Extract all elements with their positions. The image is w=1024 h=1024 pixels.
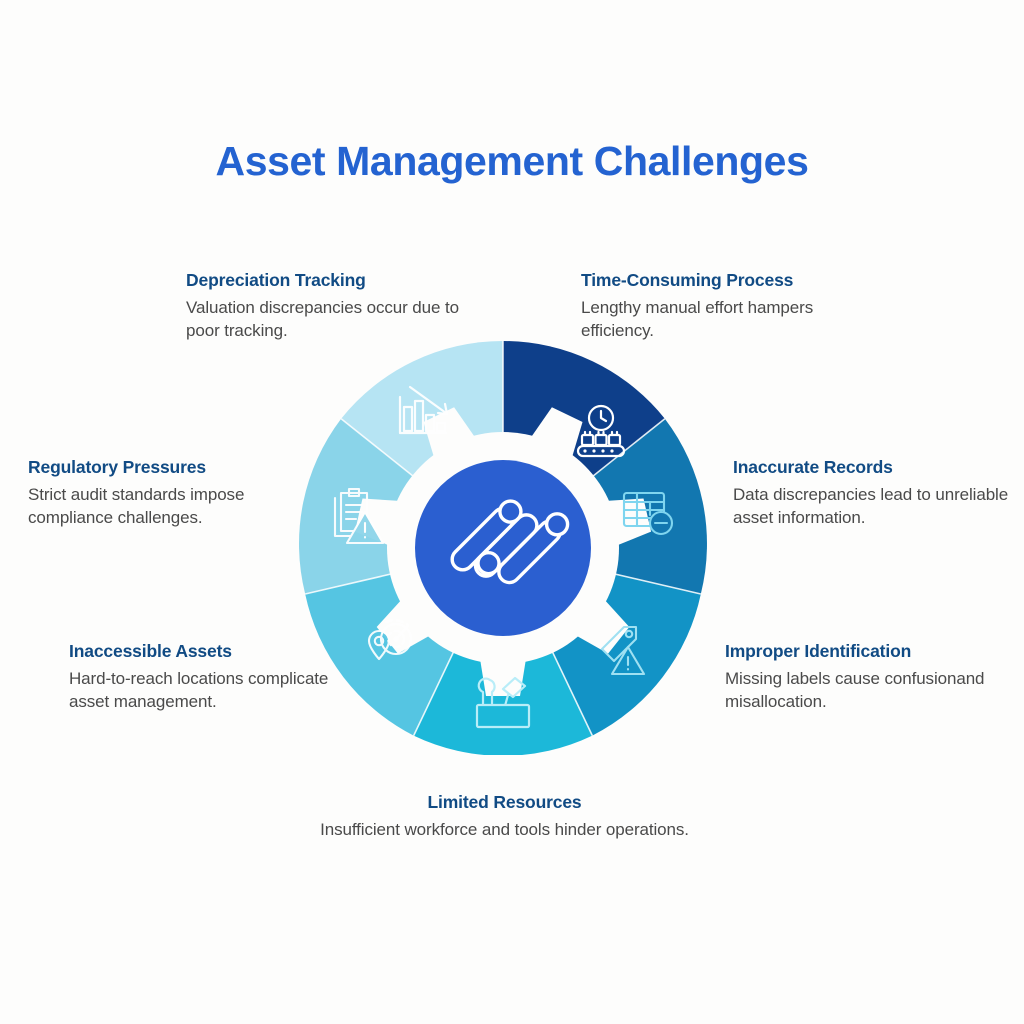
callout-heading: Improper Identification — [725, 641, 1007, 662]
callout-body: Missing labels cause confusionand misall… — [725, 668, 1007, 714]
callout-heading: Depreciation Tracking — [186, 270, 486, 291]
callout-inaccurate-records: Inaccurate Records Data discrepancies le… — [733, 457, 1015, 530]
callout-body: Hard-to-reach locations complicate asset… — [69, 668, 361, 714]
callout-body: Insufficient workforce and tools hinder … — [312, 819, 697, 842]
callout-limited-resources: Limited Resources Insufficient workforce… — [312, 792, 697, 842]
callout-heading: Inaccessible Assets — [69, 641, 361, 662]
callout-inaccessible-assets: Inaccessible Assets Hard-to-reach locati… — [69, 641, 361, 714]
wheel-center-hub[interactable] — [415, 460, 591, 636]
page-title: Asset Management Challenges — [0, 138, 1024, 185]
callout-body: Strict audit standards impose compliance… — [28, 484, 314, 530]
callout-depreciation-tracking: Depreciation Tracking Valuation discrepa… — [186, 270, 486, 343]
callout-heading: Regulatory Pressures — [28, 457, 314, 478]
callout-heading: Inaccurate Records — [733, 457, 1015, 478]
callout-heading: Time-Consuming Process — [581, 270, 881, 291]
callout-body: Lengthy manual effort hampers efficiency… — [581, 297, 881, 343]
callout-heading: Limited Resources — [312, 792, 697, 813]
callout-regulatory-pressures: Regulatory Pressures Strict audit standa… — [28, 457, 314, 530]
callout-time-consuming-process: Time-Consuming Process Lengthy manual ef… — [581, 270, 881, 343]
infographic-page: Asset Management Challenges — [0, 0, 1024, 1024]
callout-improper-identification: Improper Identification Missing labels c… — [725, 641, 1007, 714]
callout-body: Valuation discrepancies occur due to poo… — [186, 297, 486, 343]
callout-body: Data discrepancies lead to unreliable as… — [733, 484, 1015, 530]
